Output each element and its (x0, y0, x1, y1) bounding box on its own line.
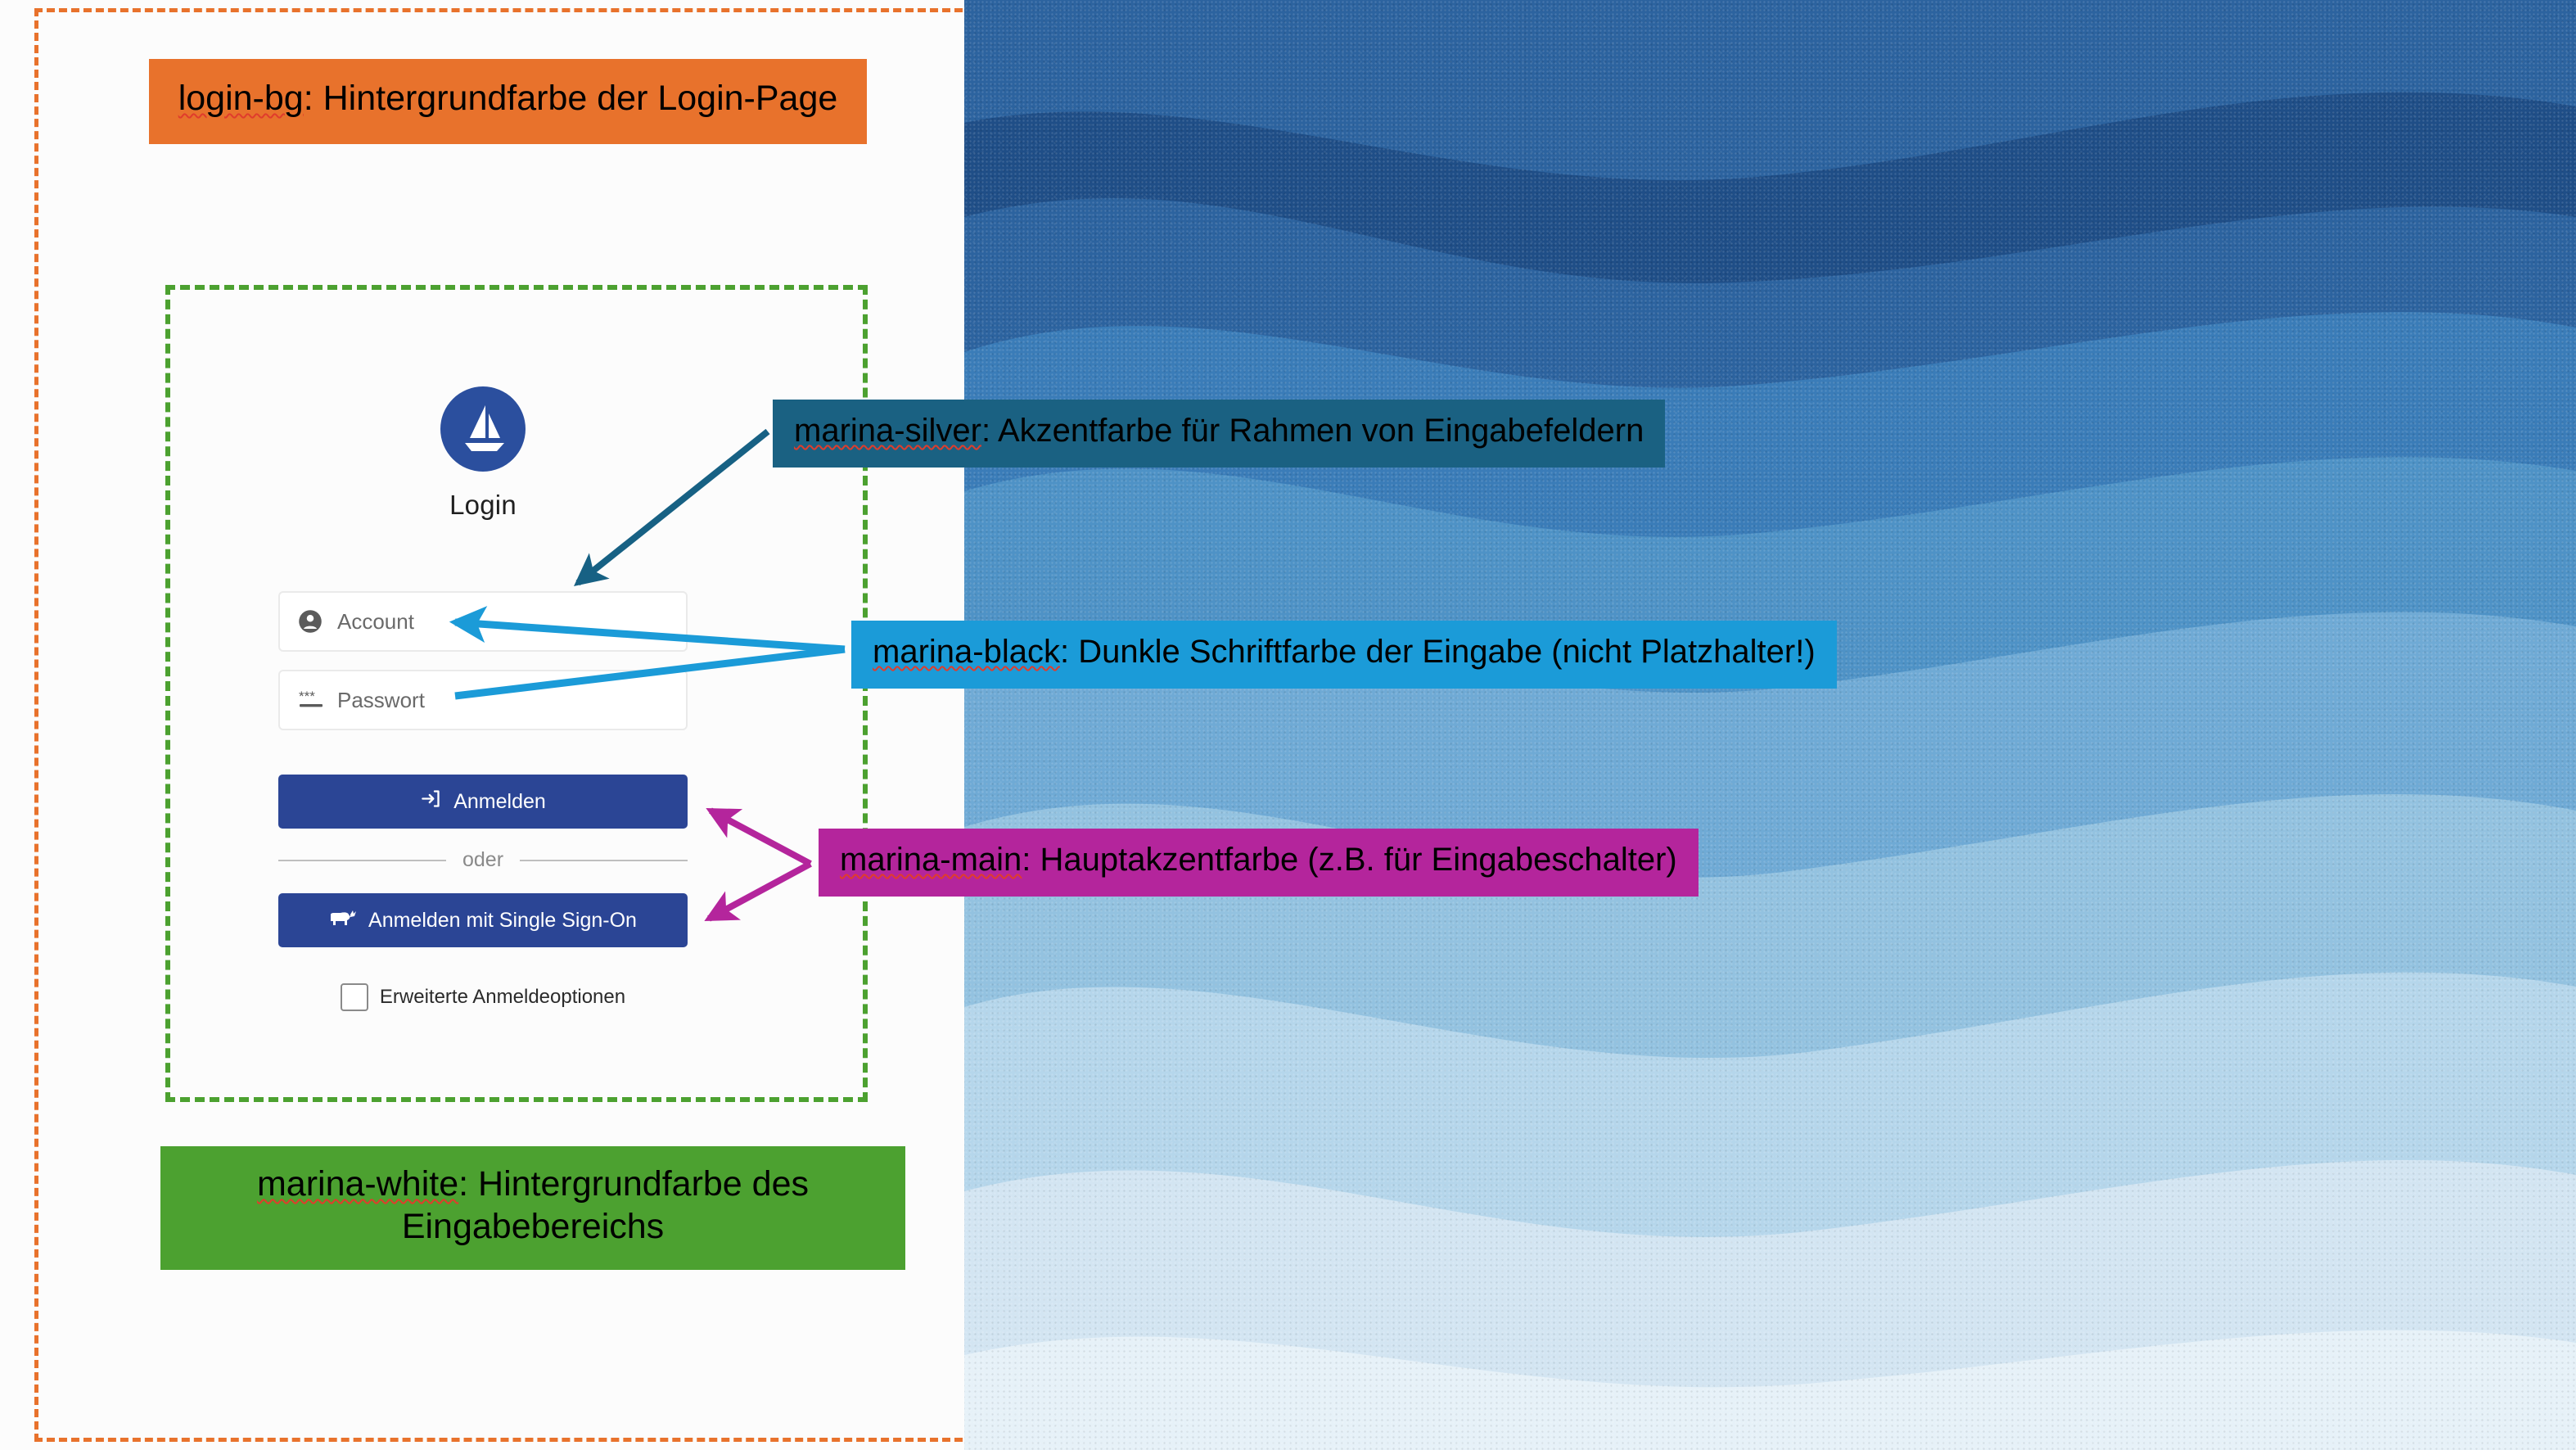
callout-marina-silver: marina-silver: Akzentfarbe für Rahmen vo… (773, 400, 1665, 468)
callout-login-bg-description: Hintergrundfarbe der Login-Page (323, 79, 838, 118)
callout-marina-silver-separator: : (981, 413, 998, 449)
sailboat-logo (440, 386, 526, 472)
callout-marina-black-description: Dunkle Schriftfarbe der Eingabe (nicht P… (1078, 634, 1815, 670)
password-asterisks-icon: *** (298, 689, 332, 711)
person-icon (298, 609, 332, 634)
callout-marina-main-description: Hauptakzentfarbe (z.B. für Eingabeschalt… (1040, 842, 1677, 878)
account-placeholder: Account (332, 609, 414, 635)
divider-label: oder (462, 848, 503, 872)
login-button-label: Anmelden (453, 790, 546, 814)
dog-icon (329, 907, 357, 934)
callout-marina-black-separator: : (1060, 634, 1078, 670)
callout-login-bg: login-bg: Hintergrundfarbe der Login-Pag… (149, 59, 867, 144)
callout-marina-silver-description: Akzentfarbe für Rahmen von Eingabefelder… (998, 413, 1644, 449)
advanced-options-row[interactable]: Erweiterte Anmeldeoptionen (278, 983, 688, 1011)
callout-marina-main-separator: : (1022, 842, 1040, 878)
callout-marina-white: marina-white: Hintergrundfarbe des Einga… (160, 1146, 905, 1270)
or-divider: oder (278, 848, 688, 872)
login-card: Login Account *** (278, 386, 688, 1011)
single-sign-on-button[interactable]: Anmelden mit Single Sign-On (278, 893, 688, 947)
callout-login-bg-separator: : (304, 79, 323, 118)
divider-rule-right (520, 860, 688, 861)
advanced-options-checkbox[interactable] (341, 983, 368, 1011)
divider-rule-left (278, 860, 446, 861)
password-placeholder: Passwort (332, 688, 425, 713)
sailboat-icon (458, 402, 508, 456)
callout-marina-black-term: marina-black (873, 634, 1060, 670)
callout-marina-main: marina-main: Hauptakzentfarbe (z.B. für … (819, 829, 1699, 897)
callout-marina-black: marina-black: Dunkle Schriftfarbe der Ei… (851, 621, 1837, 689)
callout-marina-white-term: marina-white (257, 1164, 458, 1204)
account-input[interactable]: Account (278, 591, 688, 652)
callout-login-bg-term: login-bg (178, 79, 304, 118)
login-arrow-icon (420, 788, 442, 815)
callout-marina-main-term: marina-main (840, 842, 1022, 878)
screenshot-root: Login Account *** (0, 0, 2576, 1450)
callout-marina-silver-term: marina-silver (794, 413, 981, 449)
login-button[interactable]: Anmelden (278, 775, 688, 829)
blue-wave-illustration (964, 0, 2576, 1450)
advanced-options-label: Erweiterte Anmeldeoptionen (380, 986, 625, 1009)
svg-text:***: *** (299, 689, 315, 704)
sso-button-label: Anmelden mit Single Sign-On (368, 909, 637, 933)
password-input[interactable]: *** Passwort (278, 670, 688, 730)
page-title: Login (278, 490, 688, 521)
callout-marina-white-separator: : (458, 1164, 478, 1204)
wave-svg (964, 0, 2576, 1450)
